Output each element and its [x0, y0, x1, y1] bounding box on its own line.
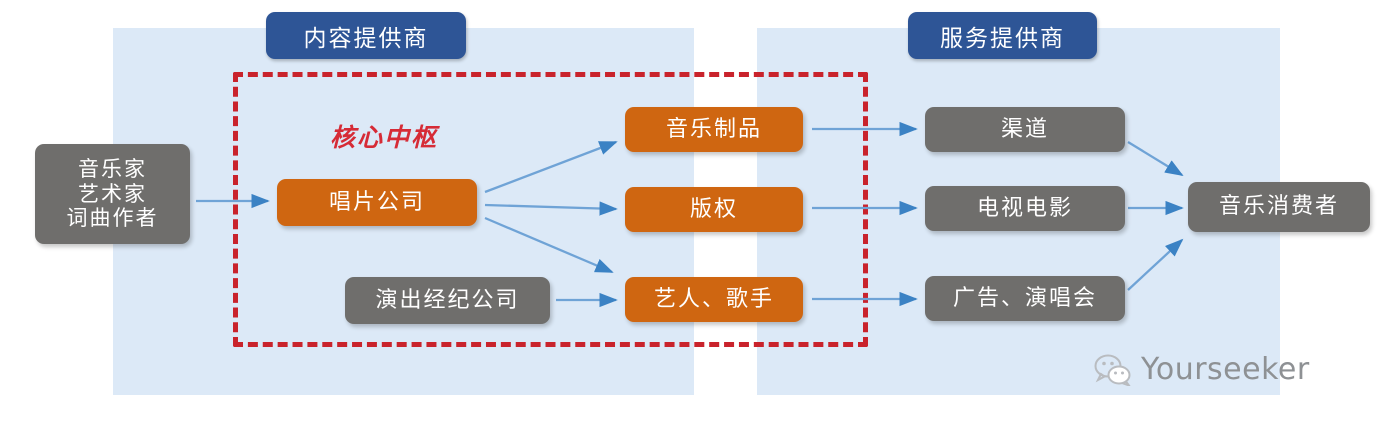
watermark-text: Yourseeker — [1141, 352, 1310, 387]
node-creators-line-1: 音乐家 — [78, 157, 147, 182]
core-hub-label: 核心中枢 — [330, 118, 438, 154]
wechat-icon — [1094, 354, 1132, 386]
watermark: Yourseeker — [1094, 352, 1310, 387]
header-content-provider[interactable]: 内容提供商 — [266, 12, 466, 59]
node-music-products[interactable]: 音乐制品 — [625, 107, 803, 152]
node-artists-singers[interactable]: 艺人、歌手 — [625, 277, 803, 322]
diagram-canvas: 核心中枢 — [0, 0, 1397, 427]
node-channel[interactable]: 渠道 — [925, 107, 1125, 152]
node-creators-line-3: 词曲作者 — [67, 206, 159, 231]
node-tv-film[interactable]: 电视电影 — [925, 186, 1125, 231]
node-label-company[interactable]: 唱片公司 — [277, 179, 477, 226]
node-creators-line-2: 艺术家 — [78, 182, 147, 207]
node-performance-agency[interactable]: 演出经纪公司 — [345, 277, 550, 324]
node-ads-concerts[interactable]: 广告、演唱会 — [925, 276, 1125, 321]
node-creators[interactable]: 音乐家 艺术家 词曲作者 — [35, 144, 190, 244]
node-music-consumers[interactable]: 音乐消费者 — [1188, 182, 1370, 232]
node-copyright[interactable]: 版权 — [625, 187, 803, 232]
header-service-provider[interactable]: 服务提供商 — [908, 12, 1097, 59]
